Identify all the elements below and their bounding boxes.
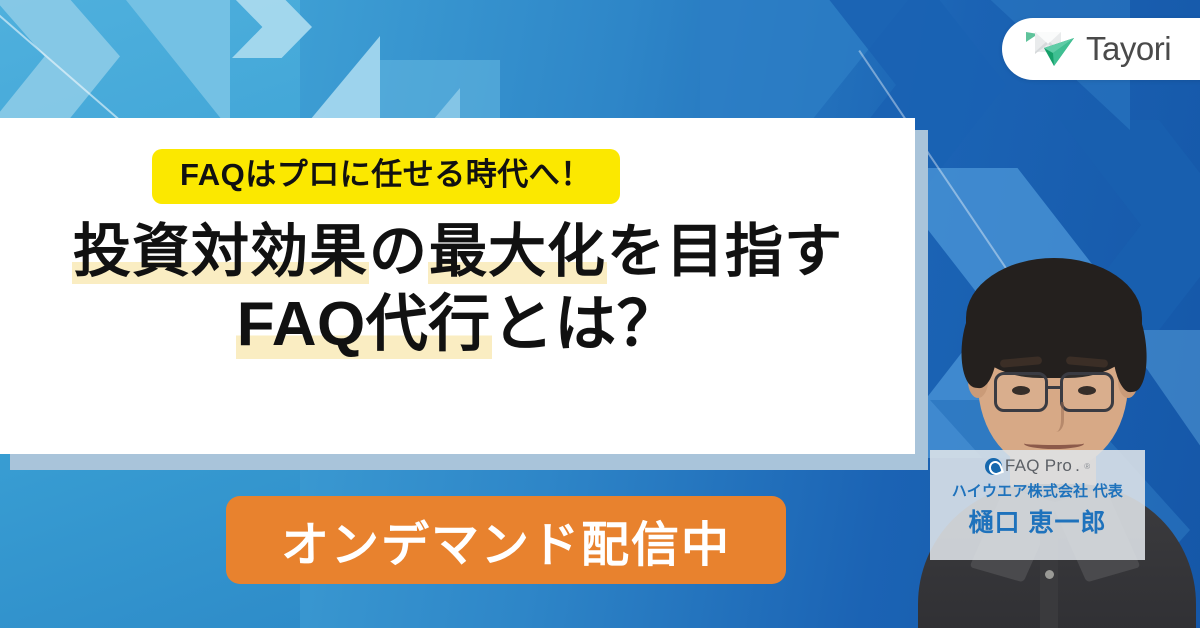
faq-pro-logo-text: FAQ Pro — [1005, 456, 1072, 476]
title-line-1-plain-b: を目指す — [607, 219, 843, 284]
title-line-2-highlight: FAQ代行 — [236, 290, 492, 359]
faq-pro-mark-icon — [985, 458, 1002, 475]
title-line-2-plain: とは？ — [492, 290, 680, 359]
portrait-nose — [1044, 402, 1064, 432]
faq-pro-logo: FAQ Pro . ® — [985, 456, 1090, 476]
badge-row: FAQはプロに任せる時代へ！ — [152, 149, 620, 204]
tagline-badge: FAQはプロに任せる時代へ！ — [152, 149, 620, 204]
portrait-glasses-right — [1060, 372, 1114, 412]
portrait-button — [1045, 570, 1054, 579]
tayori-logo-pill[interactable]: Tayori — [1002, 18, 1200, 80]
speaker-company: ハイウエア株式会社 代表 — [952, 480, 1123, 501]
cta-label: オンデマンド配信中 — [281, 505, 731, 575]
portrait-glasses-left — [994, 372, 1048, 412]
title-line-2: FAQ代行とは？ — [0, 289, 915, 361]
title-line-1-plain-a: の — [369, 219, 428, 284]
webinar-banner: FAQはプロに任せる時代へ！ 投資対効果の最大化を目指す FAQ代行とは？ オン… — [0, 0, 1200, 628]
speaker-name: 樋口 恵一郎 — [969, 503, 1107, 539]
title-block: 投資対効果の最大化を目指す FAQ代行とは？ — [0, 218, 915, 361]
portrait-glasses-bridge — [1047, 386, 1063, 389]
speaker-portrait — [900, 196, 1200, 628]
portrait-mouth — [1024, 438, 1084, 449]
on-demand-cta-button[interactable]: オンデマンド配信中 — [226, 496, 786, 584]
tayori-logo-text: Tayori — [1086, 30, 1171, 68]
faq-pro-logo-suffix: . — [1075, 456, 1080, 476]
title-line-1-highlight-b: 最大化 — [428, 219, 607, 284]
speaker-name-plate: FAQ Pro . ® ハイウエア株式会社 代表 樋口 恵一郎 — [930, 450, 1145, 560]
envelope-paper-plane-icon — [1024, 28, 1076, 70]
registered-mark-icon: ® — [1084, 462, 1090, 471]
title-line-1: 投資対効果の最大化を目指す — [0, 218, 915, 285]
title-line-1-highlight-a: 投資対効果 — [72, 219, 369, 284]
decorative-line-right — [860, 50, 870, 60]
headline-card: FAQはプロに任せる時代へ！ 投資対効果の最大化を目指す FAQ代行とは？ — [0, 118, 915, 454]
decorative-line-top-left — [0, 6, 150, 126]
